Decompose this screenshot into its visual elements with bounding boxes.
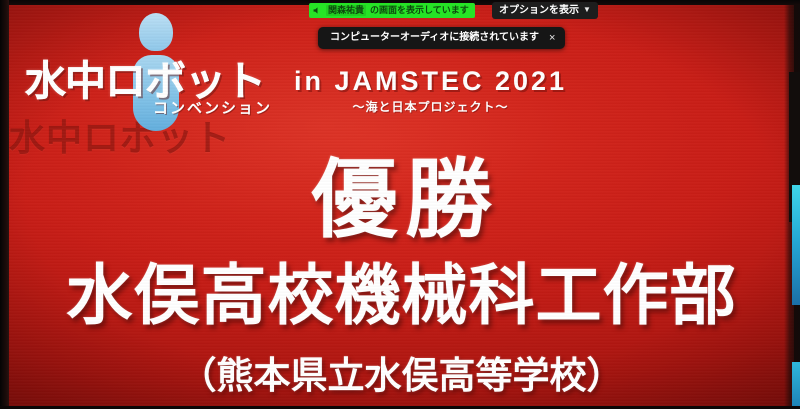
- event-title-main: in JAMSTEC 2021: [294, 68, 567, 95]
- show-options-button[interactable]: オプションを表示 ▼: [492, 2, 598, 19]
- audio-toast-message: コンピューターオーディオに接続されています: [330, 33, 539, 43]
- presenter-name: 関森祐貴: [326, 5, 366, 16]
- chevron-down-icon: ▼: [583, 6, 591, 14]
- close-icon[interactable]: ×: [549, 33, 555, 44]
- audio-connected-toast: コンピューターオーディオに接続されています ×: [318, 27, 565, 49]
- participant-tile[interactable]: [792, 185, 800, 305]
- logo-sub-text: コンベンション: [153, 101, 272, 116]
- participant-video-strip[interactable]: [784, 0, 800, 409]
- window-left-edge: [0, 0, 9, 409]
- speaker-icon: [313, 6, 322, 15]
- event-title-sub: 〜海と日本プロジェクト〜: [294, 101, 567, 113]
- award-school-name: （熊本県立水俣高等学校）: [9, 357, 794, 394]
- share-banner-label: の画面を表示しています: [370, 6, 469, 15]
- award-title: 優勝: [9, 157, 794, 243]
- award-team-name: 水俣高校機械科工作部: [9, 262, 794, 328]
- zoom-screen-share-viewer: 水中ロボット 水中ロボット コンベンション in JAMSTEC 2021 〜海…: [0, 0, 800, 409]
- shared-screen-content: 水中ロボット 水中ロボット コンベンション in JAMSTEC 2021 〜海…: [9, 5, 794, 406]
- logo-main-text: 水中ロボット: [25, 61, 265, 102]
- event-logo: 水中ロボット コンベンション: [25, 39, 315, 123]
- event-title-block: in JAMSTEC 2021 〜海と日本プロジェクト〜: [294, 68, 567, 113]
- show-options-label: オプションを表示: [499, 6, 579, 16]
- participant-tile[interactable]: [792, 362, 800, 409]
- screen-share-banner[interactable]: 関森祐貴 の画面を表示しています: [309, 3, 475, 18]
